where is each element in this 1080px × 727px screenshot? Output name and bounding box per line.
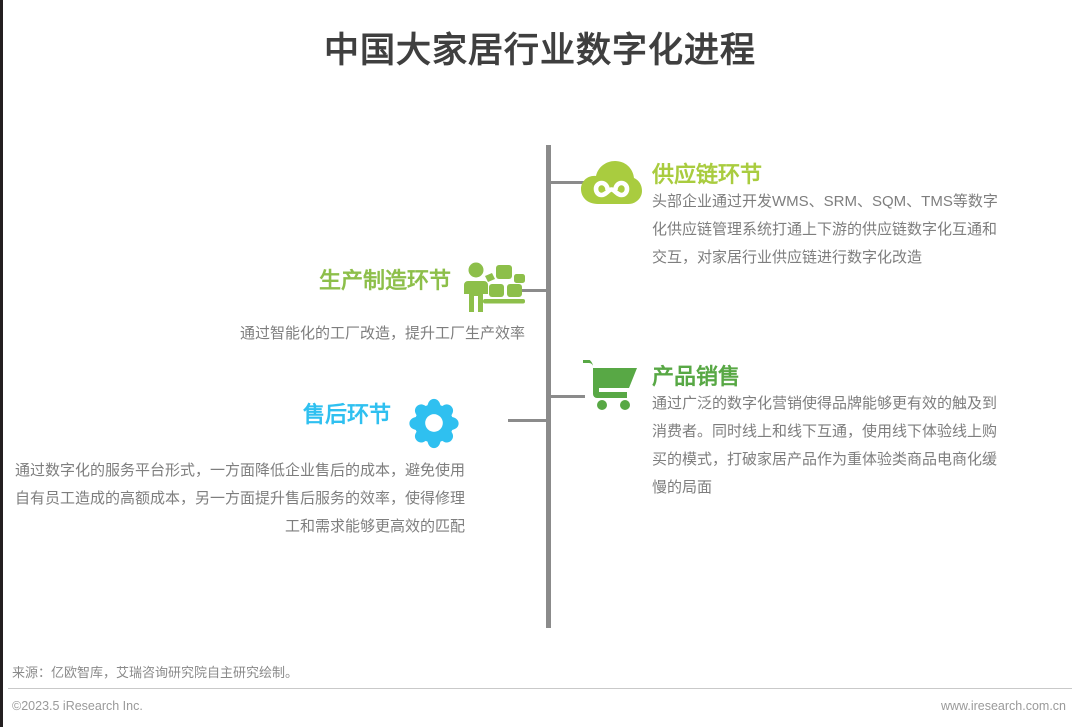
section-title-supply-chain: 供应链环节 (652, 158, 1000, 187)
section-body-product-sales: 通过广泛的数字化营销使得品牌能够更有效的触及到消费者。同时线上和线下互通，使用线… (652, 390, 1000, 501)
section-title-production: 生产制造环节 (319, 262, 463, 293)
timeline-axis (546, 145, 551, 628)
section-product-sales: 产品销售 通过广泛的数字化营销使得品牌能够更有效的触及到消费者。同时线上和线下互… (580, 360, 1000, 501)
cloud-infinity-icon (580, 158, 642, 210)
section-after-sales: 售后环节 通过数字化的服务平台形式，一方面降低企业售后的成本，避免使用自有员工造… (10, 397, 465, 540)
section-body-after-sales: 通过数字化的服务平台形式，一方面降低企业售后的成本，避免使用自有员工造成的高额成… (10, 457, 465, 540)
copyright-text: ©2023.5 iResearch Inc. (12, 699, 143, 713)
shopping-cart-icon (580, 360, 642, 412)
section-supply-chain: 供应链环节 头部企业通过开发WMS、SRM、SQM、TMS等数字化供应链管理系统… (580, 158, 1000, 272)
website-url: www.iresearch.com.cn (941, 699, 1066, 713)
section-title-product-sales: 产品销售 (652, 360, 1000, 389)
section-title-after-sales: 售后环节 (303, 397, 403, 427)
section-body-supply-chain: 头部企业通过开发WMS、SRM、SQM、TMS等数字化供应链管理系统打通上下游的… (652, 188, 1000, 271)
gear-icon (403, 397, 465, 449)
footer-divider (8, 688, 1072, 689)
section-production: 生产制造环节 通过智能化的工厂改造，提升工厂生产效率 (70, 262, 525, 348)
infographic-slide: 中国大家居行业数字化进程 供应链环节 头部企业通过开发WMS、SRM、SQM、T… (0, 0, 1080, 727)
left-edge-strip (0, 0, 3, 727)
section-body-production: 通过智能化的工厂改造，提升工厂生产效率 (70, 320, 525, 348)
connector-after-sales (508, 419, 548, 422)
page-title: 中国大家居行业数字化进程 (0, 22, 1080, 73)
source-note: 来源：亿欧智库，艾瑞咨询研究院自主研究绘制。 (12, 662, 298, 681)
factory-worker-icon (463, 262, 525, 314)
